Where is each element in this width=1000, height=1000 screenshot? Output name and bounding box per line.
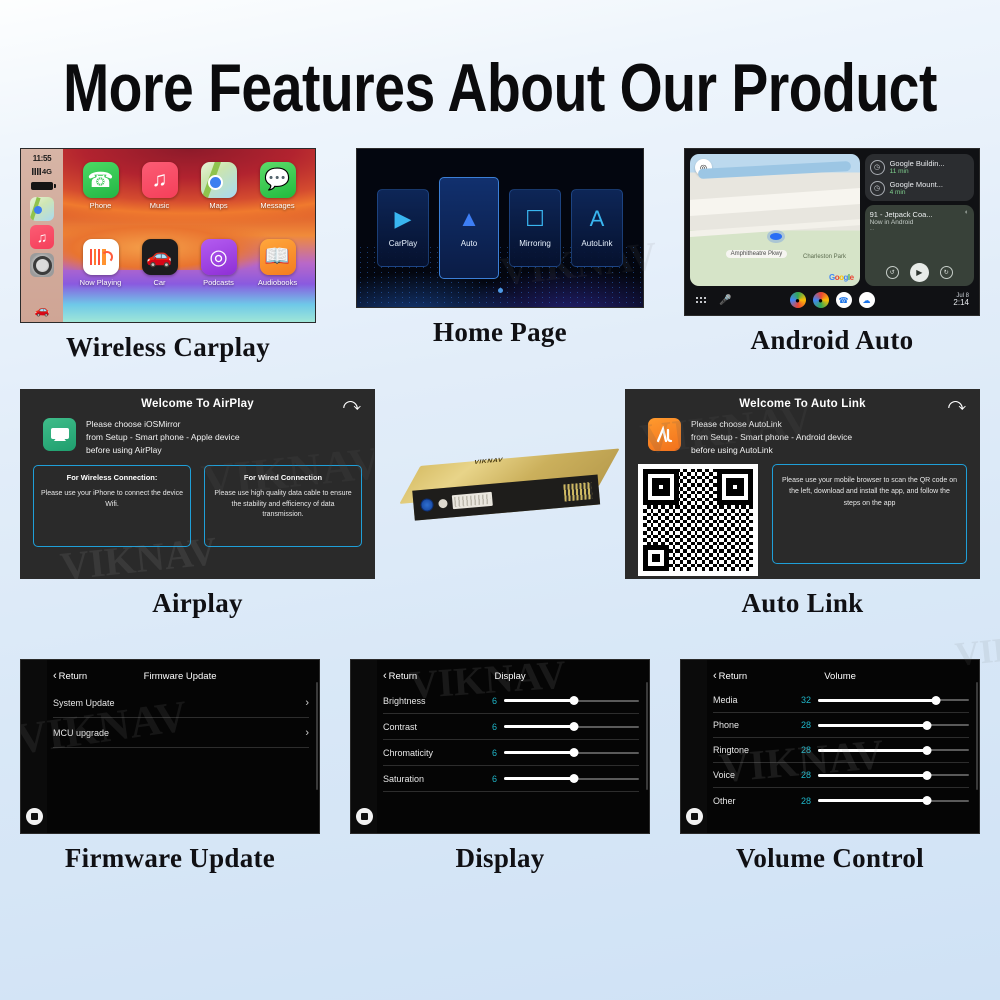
media-meta: ...	[870, 226, 969, 232]
carplay-clock: 11:55	[33, 154, 52, 163]
feature-cell-auto-link: Welcome To Auto Link ⤺ Please choose Aut…	[625, 389, 980, 619]
caption-auto-link: Auto Link	[742, 588, 864, 619]
saturation-slider[interactable]	[504, 774, 639, 784]
messages-icon: 💬	[260, 162, 296, 198]
homepage-screen[interactable]: ▶ CarPlay ▲ Auto ☐ Mirroring A AutoLink	[356, 148, 644, 308]
qr-pattern	[643, 469, 753, 571]
media-card[interactable]: ◐ 91 - Jetpack Coa... Now in Android ...…	[865, 205, 974, 286]
slider-knob[interactable]	[922, 746, 931, 755]
airplay-line-3: before using AirPlay	[86, 444, 240, 457]
app-label: Now Playing	[80, 278, 122, 287]
caption-wireless-carplay: Wireless Carplay	[66, 332, 270, 363]
android-auto-side: ◷ Google Buildin... 11 min ◷ Google Moun…	[865, 154, 974, 286]
connector-slot-icon	[451, 492, 492, 509]
suggestion-row[interactable]: ◷ Google Buildin... 11 min	[870, 159, 969, 175]
chevron-left-icon: ‹	[383, 670, 387, 682]
suggestions-card[interactable]: ◷ Google Buildin... 11 min ◷ Google Moun…	[865, 154, 974, 201]
home-icon	[691, 813, 698, 820]
feature-row-3: ‹ Return Firmware Update System Update ›…	[0, 659, 1000, 874]
suggestion-title: Google Buildin...	[890, 159, 945, 168]
weather-icon[interactable]: ☁	[859, 292, 875, 308]
volume-screen[interactable]: ‹ Return Volume Media 32	[680, 659, 980, 834]
carplay-app-car[interactable]: 🚗 Car	[130, 239, 189, 316]
phone-icon[interactable]: ☎	[836, 292, 852, 308]
vent-grill	[563, 482, 592, 501]
carplay-network-label: 4G	[42, 167, 52, 176]
home-button[interactable]	[686, 808, 703, 825]
ringtone-volume-slider[interactable]	[818, 745, 969, 755]
return-button[interactable]: ‹ Return	[53, 670, 87, 682]
firmware-header: ‹ Return Firmware Update	[53, 666, 309, 686]
carplay-app-messages[interactable]: 💬 Messages	[248, 162, 307, 239]
row-value: 6	[471, 748, 497, 758]
slider-fill	[818, 724, 927, 727]
row-value: 6	[471, 696, 497, 706]
row-value: 6	[471, 774, 497, 784]
slider-row[interactable]: Contrast 6	[383, 714, 639, 740]
app-label: Audiobooks	[258, 278, 297, 287]
display-list: Brightness 6 Contrast 6	[383, 688, 639, 792]
product-image: VIKNAV	[375, 389, 625, 579]
slider-knob[interactable]	[570, 696, 579, 705]
row-label: Brightness	[383, 696, 471, 706]
row-label: Media	[713, 695, 785, 705]
display-screen[interactable]: ‹ Return Display Brightness 6	[350, 659, 650, 834]
app-label: Maps	[209, 201, 227, 210]
feature-cell-airplay: Welcome To AirPlay ⤺ Please choose iOSMi…	[20, 389, 375, 619]
map-view[interactable]: ◎ Amphitheatre Pkwy Charleston Park Goog…	[690, 154, 860, 286]
wireless-connection-box: For Wireless Connection: Please use your…	[33, 465, 191, 547]
google-apps-icon[interactable]: ●	[813, 292, 829, 308]
audiobooks-icon: 📖	[260, 239, 296, 275]
sidebar-music-icon[interactable]: ♫	[30, 225, 54, 249]
airplay-line-1: Please choose iOSMirror	[86, 418, 240, 431]
dock-icons: ● ● ☎ ☁	[690, 292, 974, 308]
scrollbar[interactable]	[316, 682, 318, 790]
firmware-title: Firmware Update	[87, 671, 309, 682]
app-label: Podcasts	[203, 278, 234, 287]
android-auto-top: ◎ Amphitheatre Pkwy Charleston Park Goog…	[690, 154, 974, 286]
media-subtitle: Now in Android	[870, 219, 969, 226]
home-icon	[31, 813, 38, 820]
page-title: More Features About Our Product	[15, 0, 985, 127]
app-label: Music	[150, 201, 170, 210]
suggestion-title: Google Mount...	[890, 180, 943, 189]
card-label: Auto	[461, 239, 477, 248]
caption-home-page: Home Page	[433, 317, 567, 348]
app-label: Phone	[90, 201, 112, 210]
car-icon: 🚗	[142, 239, 178, 275]
row-label: Contrast	[383, 722, 471, 732]
google-logo: Google	[829, 273, 854, 282]
iosmirror-icon	[43, 418, 76, 451]
box-heading: For Wired Connection	[211, 473, 355, 482]
slider-knob[interactable]	[922, 771, 931, 780]
voice-volume-slider[interactable]	[818, 770, 969, 780]
list-item[interactable]: System Update ›	[53, 688, 309, 718]
row-value: 28	[785, 745, 811, 755]
carplay-home: ☎ Phone ♫ Music Maps 💬	[63, 149, 315, 322]
caption-airplay: Airplay	[152, 588, 243, 619]
slider-fill	[818, 774, 927, 777]
chevron-right-icon: ›	[305, 727, 309, 739]
android-auto-icon: ▲	[458, 208, 480, 230]
firmware-screen[interactable]: ‹ Return Firmware Update System Update ›…	[20, 659, 320, 834]
autolink-instructions: Please choose AutoLink from Setup - Smar…	[636, 410, 969, 456]
home-icon	[361, 813, 368, 820]
airplay-line-2: from Setup - Smart phone - Apple device	[86, 431, 240, 444]
battery-icon	[31, 182, 53, 190]
slider-knob[interactable]	[570, 722, 579, 731]
other-volume-slider[interactable]	[818, 796, 969, 806]
slider-fill	[818, 749, 927, 752]
play-icon[interactable]: ▶	[910, 263, 929, 282]
back-icon[interactable]: ⤺	[343, 396, 361, 413]
return-label: Return	[719, 671, 748, 682]
home-card-autolink[interactable]: A AutoLink	[571, 189, 623, 267]
chevron-left-icon: ‹	[713, 670, 717, 682]
slider-fill	[818, 799, 927, 802]
carplay-sidebar[interactable]: 11:55 4G ♫ 🚗	[21, 149, 63, 322]
signal-bars-icon	[32, 168, 41, 175]
suggestion-eta: 4 min	[890, 189, 943, 196]
sidebar-settings-icon[interactable]	[30, 253, 54, 277]
map-place-label-2: Charleston Park	[803, 254, 846, 261]
slider-knob[interactable]	[570, 748, 579, 757]
carplay-icon: ▶	[395, 208, 412, 230]
row-value: 32	[785, 695, 811, 705]
music-icon: ♫	[142, 162, 178, 198]
slider-row[interactable]: Phone 28	[713, 713, 969, 738]
clock-icon: ◷	[870, 181, 885, 196]
device-box: VIKNAV	[394, 436, 605, 532]
airplay-title: Welcome To AirPlay	[31, 398, 364, 410]
left-rail	[351, 660, 377, 833]
airplay-screen[interactable]: Welcome To AirPlay ⤺ Please choose iOSMi…	[20, 389, 375, 579]
slider-row[interactable]: Other 28	[713, 788, 969, 813]
display-header: ‹ Return Display	[383, 666, 639, 686]
suggestion-row[interactable]: ◷ Google Mount... 4 min	[870, 180, 969, 196]
app-label: Messages	[260, 201, 294, 210]
slider-row[interactable]: Chromaticity 6	[383, 740, 639, 766]
carplay-app-podcasts[interactable]: ◎ Podcasts	[189, 239, 248, 316]
chromaticity-slider[interactable]	[504, 748, 639, 758]
caption-firmware-update: Firmware Update	[65, 843, 275, 874]
slider-knob[interactable]	[922, 721, 931, 730]
home-button[interactable]	[356, 808, 373, 825]
autolink-note-box: Please use your mobile browser to scan t…	[772, 464, 967, 564]
row-value: 6	[471, 722, 497, 732]
row-label: Phone	[713, 720, 785, 730]
airplay-glyph	[50, 427, 70, 443]
autolink-app-icon	[648, 418, 681, 451]
autolink-line-1: Please choose AutoLink	[691, 418, 852, 431]
display-title: Display	[417, 671, 639, 682]
home-card-auto[interactable]: ▲ Auto	[439, 177, 499, 279]
row-value: 28	[785, 720, 811, 730]
caption-volume-control: Volume Control	[736, 843, 924, 874]
home-card-mirroring[interactable]: ☐ Mirroring	[509, 189, 561, 267]
app-label: Car	[153, 278, 165, 287]
qr-corner	[643, 545, 669, 571]
brightness-slider[interactable]	[504, 696, 639, 706]
chevron-left-icon: ‹	[53, 670, 57, 682]
now-playing-icon	[83, 239, 119, 275]
row-label: Ringtone	[713, 745, 785, 755]
scrollbar[interactable]	[976, 682, 978, 790]
feature-cell-display: ‹ Return Display Brightness 6	[350, 659, 650, 874]
slider-knob[interactable]	[922, 796, 931, 805]
airplay-connection-boxes: For Wireless Connection: Please use your…	[31, 456, 364, 547]
wired-connection-box: For Wired Connection Please use high qua…	[204, 465, 362, 547]
return-button[interactable]: ‹ Return	[713, 670, 747, 682]
recenter-icon[interactable]: ◎	[695, 159, 712, 176]
left-rail	[681, 660, 707, 833]
sidebar-car-icon[interactable]: 🚗	[35, 303, 50, 317]
autolink-title: Welcome To Auto Link	[636, 398, 969, 410]
clock-icon: ◷	[870, 160, 885, 175]
cast-icon: ◐	[965, 209, 969, 216]
suggestion-eta: 11 min	[890, 168, 945, 175]
return-label: Return	[59, 671, 88, 682]
autolink-line-2: from Setup - Smart phone - Android devic…	[691, 431, 852, 444]
feature-row-2: Welcome To AirPlay ⤺ Please choose iOSMi…	[0, 389, 1000, 619]
row-label: Other	[713, 796, 785, 806]
caption-display: Display	[455, 843, 544, 874]
list-item[interactable]: MCU upgrade ›	[53, 718, 309, 748]
feature-cell-firmware: ‹ Return Firmware Update System Update ›…	[20, 659, 320, 874]
slider-fill	[504, 699, 574, 702]
forward-icon[interactable]: ↻	[940, 266, 953, 279]
row-label: MCU upgrade	[53, 728, 109, 738]
feature-cell-android-auto: ◎ Amphitheatre Pkwy Charleston Park Goog…	[684, 148, 980, 363]
carplay-app-maps[interactable]: Maps	[189, 162, 248, 239]
row-label: System Update	[53, 698, 115, 708]
slider-row[interactable]: Media 32	[713, 688, 969, 713]
mirroring-icon: ☐	[525, 208, 545, 230]
carplay-app-music[interactable]: ♫ Music	[130, 162, 189, 239]
feature-cell-home-page: ▶ CarPlay ▲ Auto ☐ Mirroring A AutoLink	[356, 148, 644, 363]
volume-list: Media 32 Phone 28	[713, 688, 969, 813]
page-dot	[498, 288, 503, 293]
left-rail	[21, 660, 47, 833]
podcasts-icon: ◎	[201, 239, 237, 275]
round-port-icon	[438, 498, 448, 508]
slider-row[interactable]: Saturation 6	[383, 766, 639, 792]
row-value: 28	[785, 796, 811, 806]
row-value: 28	[785, 770, 811, 780]
feature-row-1: 11:55 4G ♫ 🚗 ☎ Phone	[0, 148, 1000, 363]
feature-cell-product: VIKNAV	[375, 389, 625, 619]
maps-icon	[201, 162, 237, 198]
rewind-icon[interactable]: ↺	[886, 266, 899, 279]
chevron-right-icon: ›	[305, 697, 309, 709]
autolink-note: Please use your mobile browser to scan t…	[781, 475, 958, 509]
autolink-screen[interactable]: Welcome To Auto Link ⤺ Please choose Aut…	[625, 389, 980, 579]
slider-knob[interactable]	[931, 696, 940, 705]
qr-code	[638, 464, 758, 576]
carplay-screen[interactable]: 11:55 4G ♫ 🚗 ☎ Phone	[20, 148, 316, 323]
box-heading: For Wireless Connection:	[40, 473, 184, 482]
autolink-body: Please use your mobile browser to scan t…	[636, 456, 969, 576]
page-indicator[interactable]	[357, 280, 643, 298]
android-auto-screen[interactable]: ◎ Amphitheatre Pkwy Charleston Park Goog…	[684, 148, 980, 316]
slider-fill	[504, 751, 574, 754]
carplay-app-now-playing[interactable]: Now Playing	[71, 239, 130, 316]
slider-fill	[504, 777, 574, 780]
usb-port-icon	[419, 497, 433, 511]
autolink-icon: A	[590, 208, 605, 230]
carplay-app-audiobooks[interactable]: 📖 Audiobooks	[248, 239, 307, 316]
row-label: Saturation	[383, 774, 471, 784]
home-button[interactable]	[26, 808, 43, 825]
feature-cell-volume: ‹ Return Volume Media 32	[680, 659, 980, 874]
scrollbar[interactable]	[646, 682, 648, 790]
slider-row[interactable]: Ringtone 28	[713, 738, 969, 763]
back-icon[interactable]: ⤺	[948, 396, 966, 413]
carplay-signal: 4G	[32, 167, 52, 176]
row-label: Chromaticity	[383, 748, 471, 758]
phone-icon: ☎	[83, 162, 119, 198]
card-label: AutoLink	[581, 239, 612, 248]
autolink-line-3: before using AutoLink	[691, 444, 852, 457]
airplay-instructions: Please choose iOSMirror from Setup - Sma…	[31, 410, 364, 456]
location-pin-icon	[770, 233, 782, 240]
media-controls: ↺ ▶ ↻	[865, 263, 974, 282]
media-volume-slider[interactable]	[818, 695, 969, 705]
home-card-carplay[interactable]: ▶ CarPlay	[377, 189, 429, 267]
row-label: Voice	[713, 770, 785, 780]
slider-knob[interactable]	[570, 774, 579, 783]
carplay-app-phone[interactable]: ☎ Phone	[71, 162, 130, 239]
slider-fill	[818, 699, 936, 702]
firmware-list: System Update › MCU upgrade ›	[53, 688, 309, 748]
maps-icon[interactable]: ●	[790, 292, 806, 308]
slider-row[interactable]: Voice 28	[713, 763, 969, 788]
carplay-app-grid: ☎ Phone ♫ Music Maps 💬	[63, 149, 315, 322]
autolink-glyph	[655, 426, 675, 444]
caption-android-auto: Android Auto	[751, 325, 914, 356]
card-label: CarPlay	[389, 239, 417, 248]
card-label: Mirroring	[519, 239, 551, 248]
return-button[interactable]: ‹ Return	[383, 670, 417, 682]
sidebar-maps-icon[interactable]	[30, 197, 54, 221]
map-place-label: Amphitheatre Pkwy	[726, 250, 788, 258]
box-body: Please use high quality data cable to en…	[211, 489, 355, 521]
volume-header: ‹ Return Volume	[713, 666, 969, 686]
contrast-slider[interactable]	[504, 722, 639, 732]
volume-title: Volume	[747, 671, 969, 682]
return-label: Return	[389, 671, 418, 682]
feature-grid: 11:55 4G ♫ 🚗 ☎ Phone	[0, 148, 1000, 874]
box-body: Please use your iPhone to connect the de…	[40, 489, 184, 510]
media-title: 91 - Jetpack Coa...	[870, 210, 969, 219]
android-auto-taskbar: 🎤 ● ● ☎ ☁ Jul 8 2:14	[690, 290, 974, 310]
slider-row[interactable]: Brightness 6	[383, 688, 639, 714]
slider-fill	[504, 725, 574, 728]
phone-volume-slider[interactable]	[818, 720, 969, 730]
feature-cell-wireless-carplay: 11:55 4G ♫ 🚗 ☎ Phone	[20, 148, 316, 363]
